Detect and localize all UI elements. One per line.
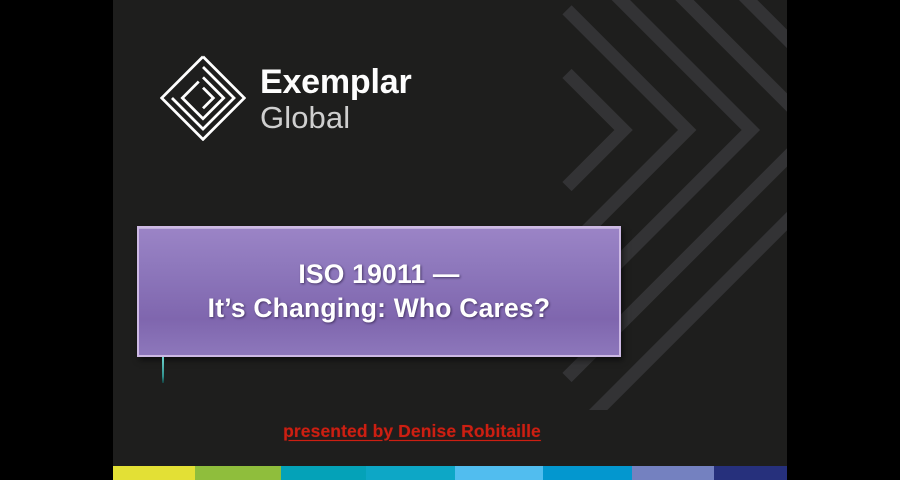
exemplar-maze-diamond-icon	[160, 55, 246, 141]
slide-title-box: ISO 19011 — It’s Changing: Who Cares?	[137, 226, 621, 357]
brand-color-bar	[113, 466, 787, 480]
slide-canvas: Exemplar Global ISO 19011 — It’s Changin…	[113, 0, 787, 480]
color-band-yellow	[113, 466, 195, 480]
slide-title-line-2: It’s Changing: Who Cares?	[208, 292, 551, 326]
presenter-credit-text: presented by Denise Robitaille	[283, 421, 541, 441]
presenter-credit: presented by Denise Robitaille	[113, 421, 787, 442]
color-band-yellow-green	[195, 466, 280, 480]
color-band-periwinkle	[632, 466, 714, 480]
color-band-navy	[714, 466, 787, 480]
slide-title-text: ISO 19011 — It’s Changing: Who Cares?	[208, 258, 551, 326]
exemplar-global-logo: Exemplar Global	[160, 55, 411, 141]
color-band-cyan-teal	[366, 466, 455, 480]
text-cursor-artifact	[162, 357, 164, 383]
slide-title-line-1: ISO 19011 —	[298, 259, 459, 289]
color-band-teal	[281, 466, 366, 480]
presentation-video-frame: Exemplar Global ISO 19011 — It’s Changin…	[0, 0, 900, 480]
color-band-sky-blue	[455, 466, 544, 480]
logo-word-exemplar: Exemplar	[260, 65, 411, 99]
color-band-blue	[543, 466, 632, 480]
logo-word-global: Global	[260, 102, 411, 133]
